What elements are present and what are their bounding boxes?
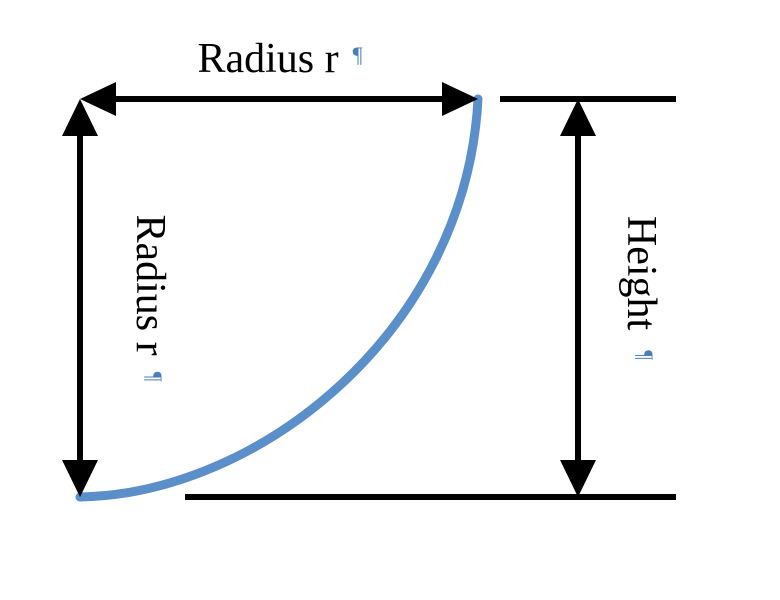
diagram-canvas: Radius r¶ Radius r¶ Height¶ bbox=[0, 0, 780, 600]
diagram-background bbox=[0, 0, 780, 600]
diagram-vector-graphics bbox=[0, 0, 780, 600]
